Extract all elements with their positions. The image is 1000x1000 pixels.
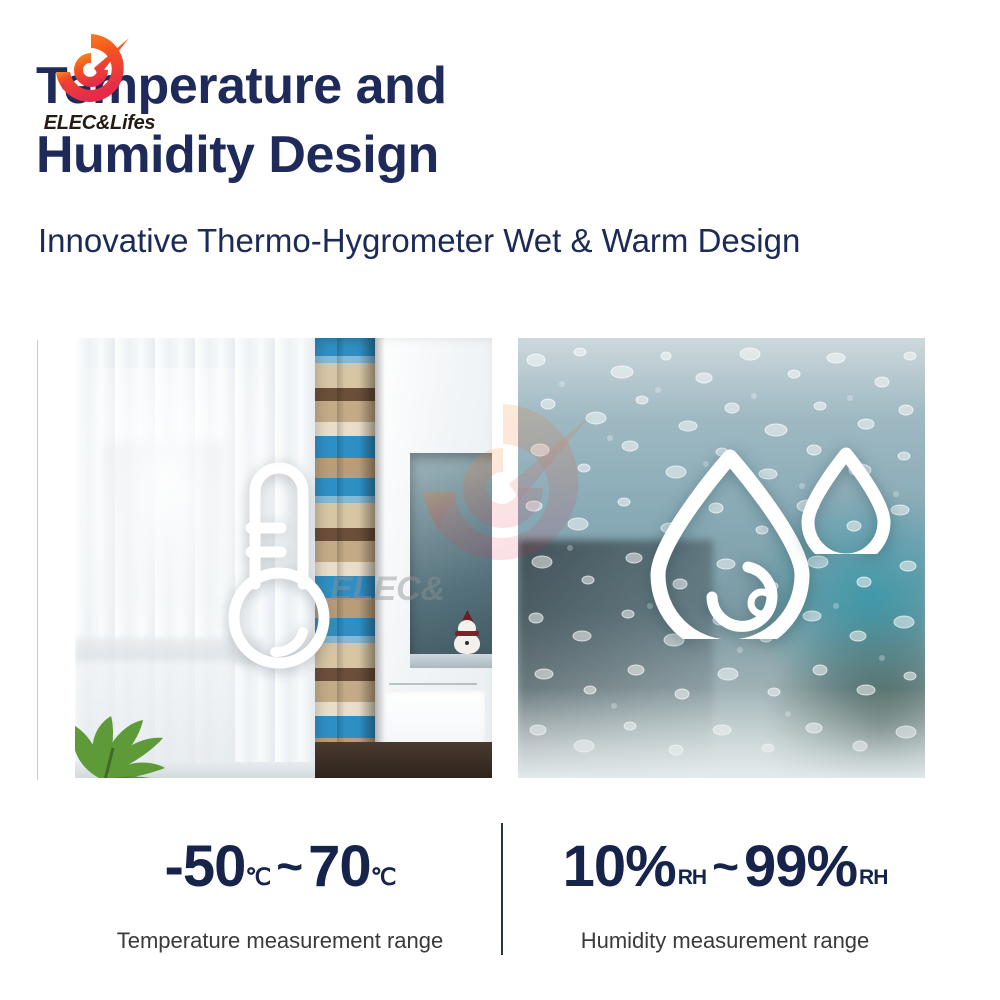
brand-name: ELEC&Lifes	[27, 112, 172, 135]
floor-dark	[315, 742, 492, 778]
spec-humidity-min-unit: RH	[678, 866, 706, 889]
spec-humidity-max-unit: RH	[859, 866, 887, 889]
spec-humidity-caption: Humidity measurement range	[505, 928, 945, 954]
temperature-photo	[75, 338, 492, 778]
bottom-haze	[518, 688, 925, 778]
thermometer-icon	[221, 456, 337, 678]
spec-humidity-min: 10%	[563, 834, 676, 899]
white-cabinet	[375, 338, 492, 778]
palm-plant	[75, 674, 219, 778]
spec-temperature-min: -50	[165, 834, 246, 899]
spec-humidity-value: 10%RH~99%RH	[505, 838, 945, 896]
product-feature-banner: Temperature and Humidity Design Innovati…	[0, 0, 1000, 1000]
cabinet-seam	[389, 683, 477, 685]
cabinet-niche	[410, 453, 492, 668]
spec-temperature-value: -50℃~70℃	[60, 838, 500, 896]
humidity-photo	[518, 338, 925, 778]
brand-logo: ELEC&Lifes	[27, 28, 172, 140]
spec-divider	[501, 823, 503, 955]
gallery-rail-divider	[37, 340, 38, 780]
spec-temperature-separator: ~	[276, 840, 302, 892]
snowman-scarf	[455, 631, 479, 636]
spec-humidity: 10%RH~99%RH Humidity measurement range	[505, 838, 945, 954]
spec-temperature-max: 70	[308, 834, 371, 899]
spec-temperature: -50℃~70℃ Temperature measurement range	[60, 838, 500, 954]
spec-humidity-separator: ~	[712, 840, 738, 892]
water-droplet-small-icon	[796, 444, 896, 554]
spec-temperature-min-unit: ℃	[245, 866, 270, 889]
spec-temperature-caption: Temperature measurement range	[60, 928, 500, 954]
cabinet-edge	[375, 338, 385, 778]
cabinet-shelf	[410, 654, 492, 668]
elec-lifes-circle-logo-icon	[37, 28, 145, 116]
snowman-figurine	[454, 610, 480, 654]
curtain-fold-left	[337, 338, 345, 778]
spec-humidity-max: 99%	[744, 834, 857, 899]
snowman-button	[465, 641, 469, 645]
water-droplet-icon	[640, 443, 820, 639]
page-subtitle: Innovative Thermo-Hygrometer Wet & Warm …	[38, 222, 800, 260]
spec-temperature-max-unit: ℃	[371, 866, 396, 889]
center-watermark-text: ELEC&	[330, 570, 445, 609]
